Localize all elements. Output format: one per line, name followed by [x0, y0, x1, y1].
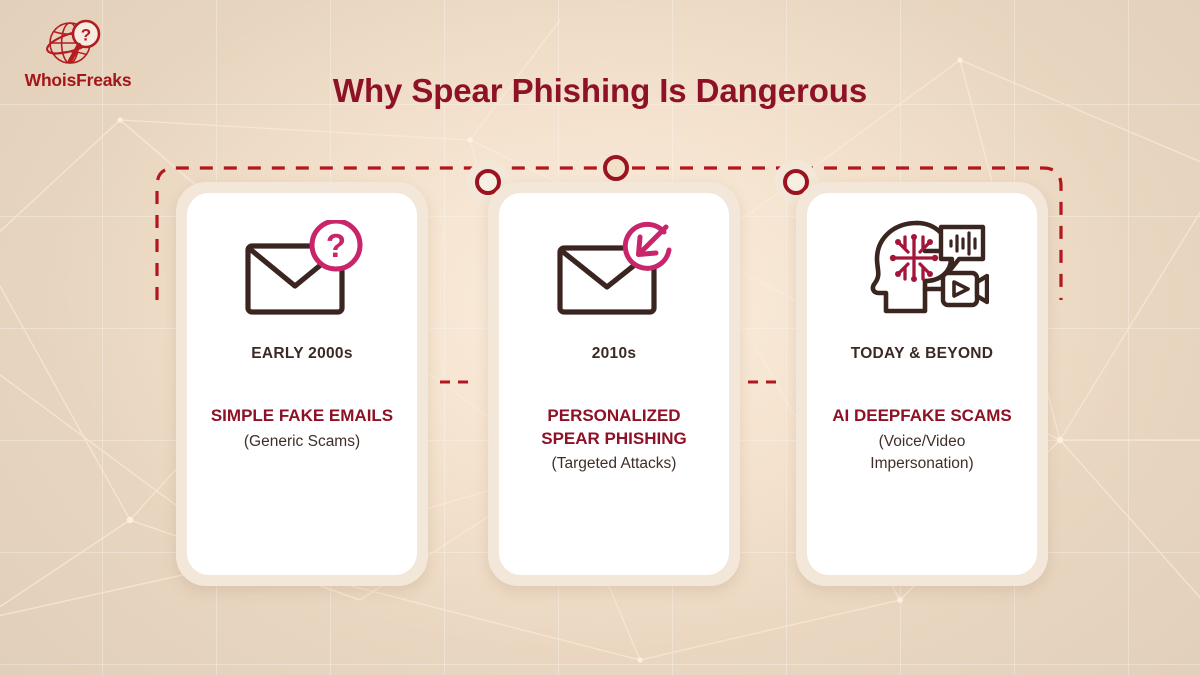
globe-magnifier-question-icon: ?: [30, 16, 126, 72]
card-2-era: 2010s: [592, 345, 637, 363]
card-3-icon-area: [807, 193, 1037, 343]
card-2-icon-area: [499, 193, 729, 343]
timeline-card-2[interactable]: 2010s PERSONALIZED SPEAR PHISHING (Targe…: [488, 182, 740, 586]
card-3-era: TODAY & BEYOND: [851, 345, 994, 363]
card-2-subtext: (Targeted Attacks): [544, 453, 685, 475]
card-3-subtext-line2: Impersonation): [870, 455, 973, 472]
card-3-subtext: (Voice/Video Impersonation): [862, 431, 981, 476]
card-1-headline: SIMPLE FAKE EMAILS: [205, 405, 399, 428]
card-3-subtext-line1: (Voice/Video: [879, 433, 966, 450]
card-3-inner: TODAY & BEYOND AI DEEPFAKE SCAMS (Voice/…: [807, 193, 1037, 575]
card-2-headline-line1: PERSONALIZED: [547, 406, 680, 425]
svg-text:?: ?: [81, 26, 91, 45]
ai-head-deepfake-icon: [855, 215, 989, 321]
svg-text:?: ?: [326, 227, 346, 264]
envelope-question-icon: ?: [240, 220, 364, 316]
card-3-headline: AI DEEPFAKE SCAMS: [826, 405, 1017, 428]
card-1-subtext: (Generic Scams): [236, 431, 368, 453]
card-1-inner: ? EARLY 2000s SIMPLE FAKE EMAILS (Generi…: [187, 193, 417, 575]
card-1-era: EARLY 2000s: [251, 345, 353, 363]
timeline-card-3[interactable]: TODAY & BEYOND AI DEEPFAKE SCAMS (Voice/…: [796, 182, 1048, 586]
card-1-icon-area: ?: [187, 193, 417, 343]
card-2-inner: 2010s PERSONALIZED SPEAR PHISHING (Targe…: [499, 193, 729, 575]
page-title: Why Spear Phishing Is Dangerous: [0, 72, 1200, 110]
timeline-node-top: [603, 155, 629, 181]
envelope-targeted-arrow-icon: [552, 220, 676, 316]
card-2-headline: PERSONALIZED SPEAR PHISHING: [535, 405, 692, 450]
timeline-card-1[interactable]: ? EARLY 2000s SIMPLE FAKE EMAILS (Generi…: [176, 182, 428, 586]
card-2-headline-line2: SPEAR PHISHING: [541, 429, 686, 448]
